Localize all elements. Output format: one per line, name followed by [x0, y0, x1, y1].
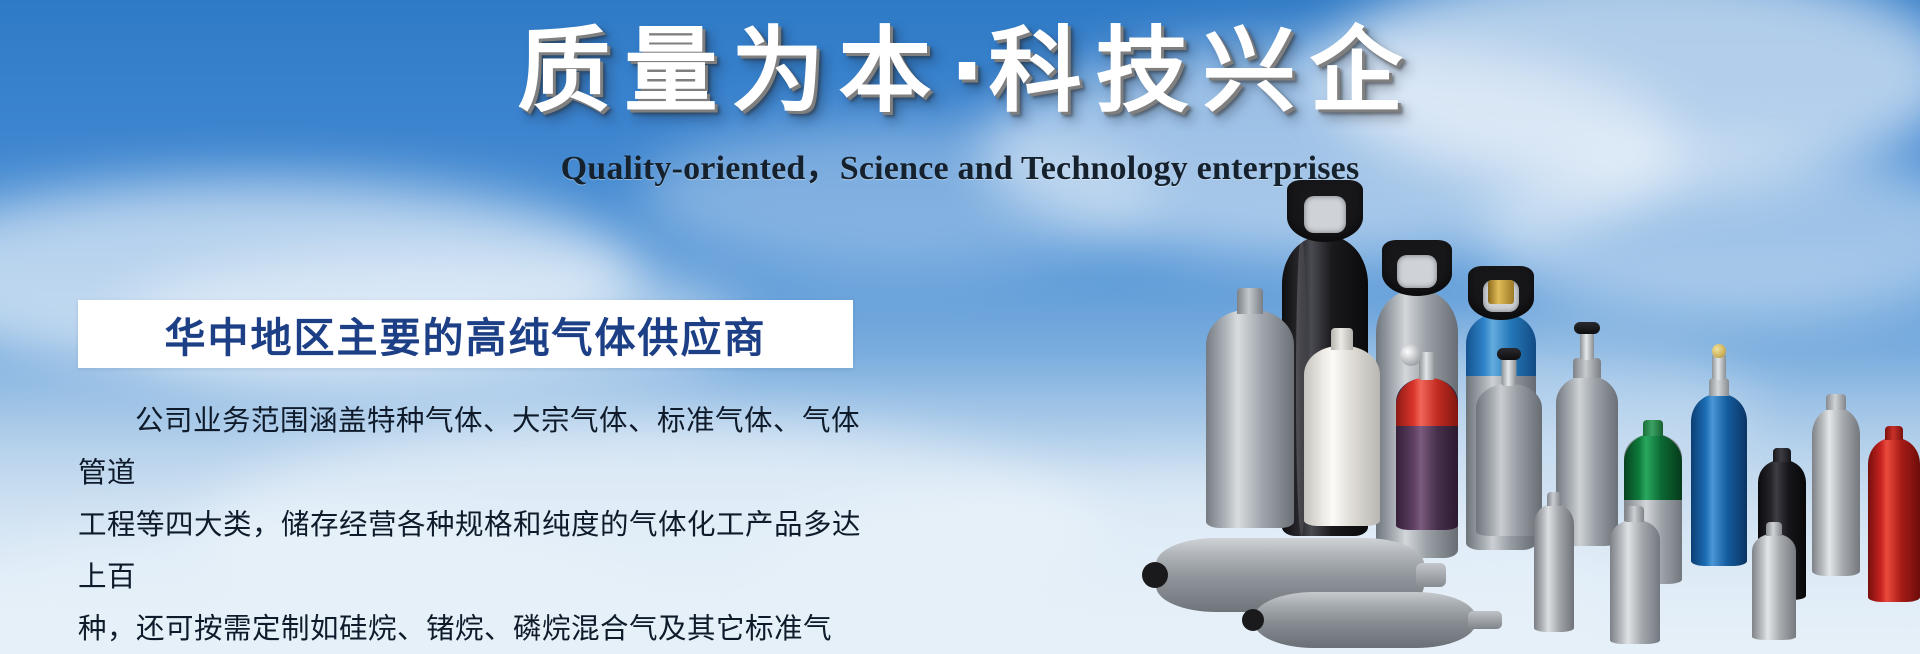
headline: 质量为本·科技兴企 [0, 22, 1920, 121]
gas-cylinders-photo [1146, 160, 1920, 654]
grey-valve-cylinder [1476, 384, 1542, 536]
tagline-text: 华中地区主要的高纯气体供应商 [165, 304, 767, 364]
black-valve-guard [1382, 240, 1452, 296]
cylinder-neck [1766, 522, 1782, 536]
black-valve-guard [1287, 180, 1363, 242]
green-top-band [1624, 434, 1682, 500]
chrome-valve [1502, 356, 1517, 386]
red-top-band [1396, 378, 1458, 426]
cylinder-end-valve [1468, 611, 1502, 629]
cylinder-neck [1626, 506, 1644, 522]
black-handwheel [1497, 348, 1521, 360]
tagline-box: 华中地区主要的高纯气体供应商 [78, 300, 853, 368]
small-aluminium-bottle [1534, 504, 1574, 632]
white-cylinder [1304, 346, 1380, 526]
black-handwheel [1574, 322, 1600, 334]
red-aluminium-cylinder [1868, 438, 1920, 602]
cylinder-neck [1573, 358, 1601, 378]
large-grey-cylinder [1206, 310, 1294, 528]
cylinder-neck [1885, 426, 1903, 440]
red-purple-cylinder [1396, 378, 1458, 530]
headline-separator: · [945, 17, 988, 125]
blue-cylinder [1691, 394, 1747, 566]
small-aluminium-bottle [1752, 534, 1796, 640]
cylinder-neck [1826, 394, 1846, 410]
cylinder-neck [1331, 328, 1353, 350]
description-line-2: 工程等四大类，储存经营各种规格和纯度的气体化工产品多达上百 [78, 499, 868, 603]
lying-grey-cylinder-small [1254, 592, 1476, 648]
cylinder-neck [1773, 448, 1791, 462]
aluminium-cylinder [1812, 408, 1860, 576]
cylinder-neck [1709, 378, 1729, 396]
small-aluminium-bottle [1610, 520, 1660, 644]
cylinder-end-neck [1416, 563, 1446, 587]
cylinder-neck [1547, 492, 1561, 506]
regulator-knob [1712, 344, 1726, 358]
black-end-cap [1142, 562, 1168, 588]
valve-handwheel [1400, 344, 1422, 366]
cylinder-neck [1643, 420, 1663, 436]
chrome-valve [1580, 330, 1594, 360]
black-end-cap [1242, 609, 1264, 631]
promo-banner: 质量为本·科技兴企 Quality-oriented，Science and T… [0, 0, 1920, 654]
description-line-1: 公司业务范围涵盖特种气体、大宗气体、标准气体、气体管道 [78, 395, 868, 499]
description-line-3: 种，还可按需定制如硅烷、锗烷、磷烷混合气及其它标准气体。 [78, 603, 868, 654]
headline-part-2: 科技兴企 [989, 17, 1417, 125]
description-paragraph: 公司业务范围涵盖特种气体、大宗气体、标准气体、气体管道 工程等四大类，储存经营各… [78, 395, 868, 654]
brass-valve [1488, 280, 1514, 304]
cylinder-neck [1237, 288, 1263, 314]
headline-part-1: 质量为本 [517, 17, 945, 125]
